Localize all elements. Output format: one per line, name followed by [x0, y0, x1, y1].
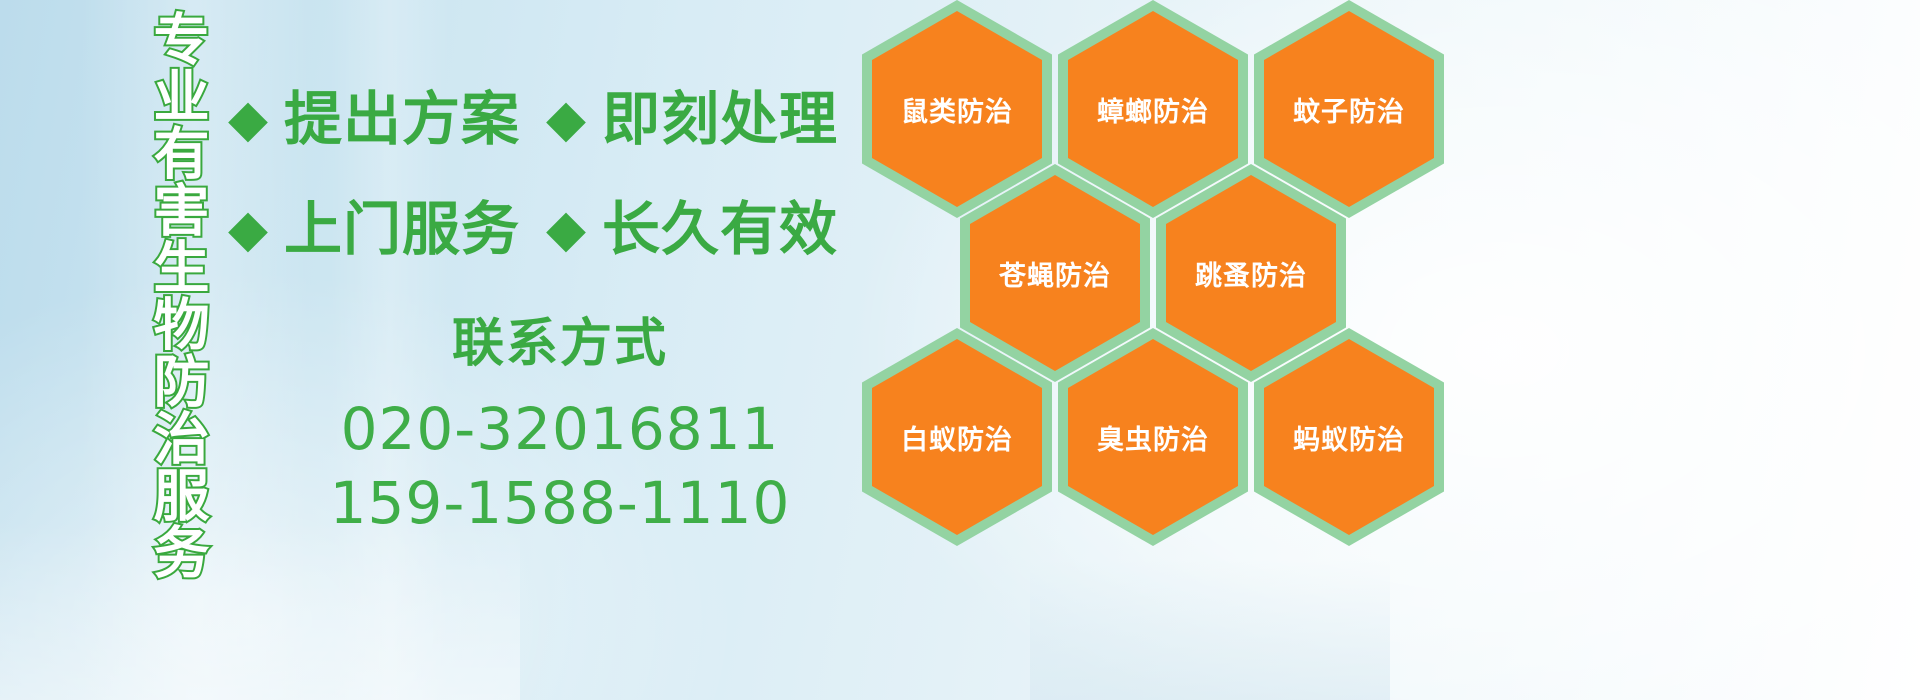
service-label: 臭虫防治 [1097, 418, 1209, 457]
feature-label-propose-plan: 提出方案 [284, 90, 520, 148]
diamond-bullet-icon: ◆ [546, 93, 586, 145]
service-label: 蟑螂防治 [1097, 90, 1209, 129]
hexagon-inner: 跳蚤防治 [1166, 175, 1336, 371]
background-glow [0, 520, 520, 700]
diamond-bullet-icon: ◆ [228, 93, 268, 145]
service-label: 苍蝇防治 [999, 254, 1111, 293]
feature-label-door-to-door-service: 上门服务 [284, 200, 520, 258]
hexagon-inner: 蟑螂防治 [1068, 11, 1238, 207]
service-hexagon-grid: 鼠类防治 蟑螂防治 蚊子防治 苍蝇防治 跳蚤防治 白蚁防治 [862, 0, 1462, 700]
service-label: 蚂蚁防治 [1293, 418, 1405, 457]
hexagon-inner: 苍蝇防治 [970, 175, 1140, 371]
service-label: 鼠类防治 [901, 90, 1013, 129]
feature-row-2: ◆ 上门服务 ◆ 长久有效 [228, 200, 838, 258]
diamond-bullet-icon: ◆ [546, 203, 586, 255]
hexagon-inner: 鼠类防治 [872, 11, 1042, 207]
promo-banner: 专业有害生物防治服务 ◆ 提出方案 ◆ 即刻处理 ◆ 上门服务 ◆ 长久有效 联… [0, 0, 1920, 700]
service-label: 白蚁防治 [901, 418, 1013, 457]
contact-title: 联系方式 [300, 318, 820, 370]
hexagon-inner: 蚂蚁防治 [1264, 339, 1434, 535]
service-label: 跳蚤防治 [1195, 254, 1307, 293]
contact-block: 联系方式 020-32016811 159-1588-1110 [300, 318, 820, 540]
hexagon-inner: 臭虫防治 [1068, 339, 1238, 535]
phone-landline[interactable]: 020-32016811 [300, 392, 820, 466]
service-label: 蚊子防治 [1293, 90, 1405, 129]
feature-row-1: ◆ 提出方案 ◆ 即刻处理 [228, 90, 838, 148]
diamond-bullet-icon: ◆ [228, 203, 268, 255]
vertical-headline: 专业有害生物防治服务 [108, 10, 204, 570]
hexagon-inner: 白蚁防治 [872, 339, 1042, 535]
feature-label-immediate-handling: 即刻处理 [602, 90, 838, 148]
phone-mobile[interactable]: 159-1588-1110 [300, 466, 820, 540]
hexagon-inner: 蚊子防治 [1264, 11, 1434, 207]
feature-label-long-lasting-effect: 长久有效 [602, 200, 838, 258]
